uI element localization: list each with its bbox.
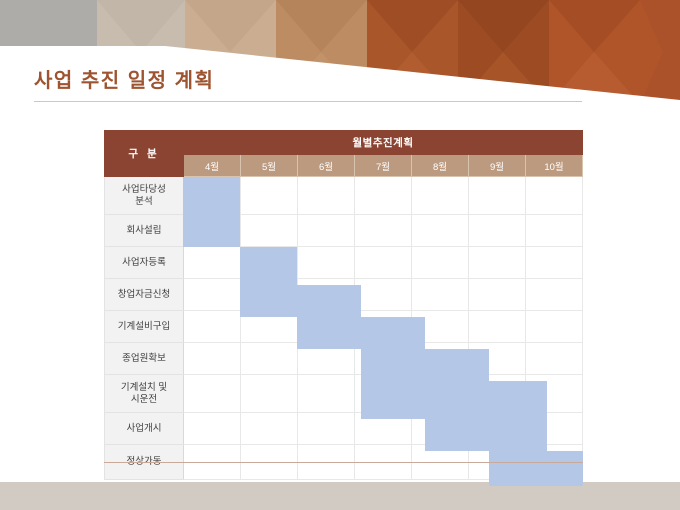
cell-6-6 bbox=[526, 375, 583, 413]
header-category: 구 분 bbox=[105, 131, 184, 177]
cell-2-5 bbox=[469, 247, 526, 279]
row-label-1: 회사설립 bbox=[105, 215, 184, 247]
table-row: 사업자등록 bbox=[105, 247, 583, 279]
table-bottom-border bbox=[104, 462, 583, 463]
slide: 사업 추진 일정 계획 구 분 월별추진계획 4월 5월 6월 7월 8월 9월… bbox=[0, 0, 680, 510]
header-plan: 월별추진계획 bbox=[184, 131, 583, 155]
cell-2-4 bbox=[412, 247, 469, 279]
table-row: 기계설비구입 bbox=[105, 311, 583, 343]
table-row: 사업개시 bbox=[105, 413, 583, 445]
header-month-5: 5월 bbox=[241, 155, 298, 177]
cell-5-1 bbox=[241, 343, 298, 375]
table-row: 기계설치 및 시운전 bbox=[105, 375, 583, 413]
cell-4-4 bbox=[412, 311, 469, 343]
cell-4-6 bbox=[526, 311, 583, 343]
cell-7-3 bbox=[355, 413, 412, 445]
table-body: 사업타당성 분석 회사설립 bbox=[105, 177, 583, 480]
cell-5-6 bbox=[526, 343, 583, 375]
cell-2-2 bbox=[298, 247, 355, 279]
cell-7-4 bbox=[412, 413, 469, 445]
cell-4-5 bbox=[469, 311, 526, 343]
header-month-7: 7월 bbox=[355, 155, 412, 177]
cell-7-6 bbox=[526, 413, 583, 445]
cell-1-4 bbox=[412, 215, 469, 247]
cell-3-6 bbox=[526, 279, 583, 311]
cell-7-2 bbox=[298, 413, 355, 445]
header-month-6: 6월 bbox=[298, 155, 355, 177]
cell-0-1 bbox=[241, 177, 298, 215]
cell-5-4 bbox=[412, 343, 469, 375]
row-label-line2: 시운전 bbox=[131, 394, 157, 405]
cell-5-5 bbox=[469, 343, 526, 375]
header-month-8: 8월 bbox=[412, 155, 469, 177]
table-row: 종업원확보 bbox=[105, 343, 583, 375]
cell-3-0 bbox=[184, 279, 241, 311]
cell-7-5 bbox=[469, 413, 526, 445]
cell-2-1 bbox=[241, 247, 298, 279]
header-row-main: 구 분 월별추진계획 bbox=[105, 131, 583, 155]
cell-5-2 bbox=[298, 343, 355, 375]
cell-0-4 bbox=[412, 177, 469, 215]
cell-3-3 bbox=[355, 279, 412, 311]
cell-6-2 bbox=[298, 375, 355, 413]
cell-1-5 bbox=[469, 215, 526, 247]
cell-7-0 bbox=[184, 413, 241, 445]
cell-5-0 bbox=[184, 343, 241, 375]
cell-3-1 bbox=[241, 279, 298, 311]
cell-2-0 bbox=[184, 247, 241, 279]
table-row: 사업타당성 분석 bbox=[105, 177, 583, 215]
cell-2-3 bbox=[355, 247, 412, 279]
footer-bar bbox=[0, 482, 680, 510]
table-head: 구 분 월별추진계획 4월 5월 6월 7월 8월 9월 10월 bbox=[105, 131, 583, 177]
cell-5-3 bbox=[355, 343, 412, 375]
cell-6-5 bbox=[469, 375, 526, 413]
header-month-9: 9월 bbox=[469, 155, 526, 177]
row-label-0: 사업타당성 분석 bbox=[105, 177, 184, 215]
cell-4-3 bbox=[355, 311, 412, 343]
row-label-line2: 분석 bbox=[135, 196, 152, 207]
cell-3-4 bbox=[412, 279, 469, 311]
row-label-5: 종업원확보 bbox=[105, 343, 184, 375]
cell-1-3 bbox=[355, 215, 412, 247]
schedule-table-wrapper: 구 분 월별추진계획 4월 5월 6월 7월 8월 9월 10월 사업타당성 bbox=[104, 130, 583, 461]
cell-0-3 bbox=[355, 177, 412, 215]
cell-4-1 bbox=[241, 311, 298, 343]
cell-1-2 bbox=[298, 215, 355, 247]
cell-4-2 bbox=[298, 311, 355, 343]
cell-2-6 bbox=[526, 247, 583, 279]
header-month-4: 4월 bbox=[184, 155, 241, 177]
cell-6-4 bbox=[412, 375, 469, 413]
cell-0-6 bbox=[526, 177, 583, 215]
row-label-line1: 사업타당성 bbox=[122, 184, 166, 195]
cell-1-1 bbox=[241, 215, 298, 247]
cell-0-0 bbox=[184, 177, 241, 215]
schedule-table: 구 분 월별추진계획 4월 5월 6월 7월 8월 9월 10월 사업타당성 bbox=[104, 130, 583, 480]
cell-3-5 bbox=[469, 279, 526, 311]
cell-6-3 bbox=[355, 375, 412, 413]
cell-1-6 bbox=[526, 215, 583, 247]
cell-6-1 bbox=[241, 375, 298, 413]
row-label-3: 창업자금신청 bbox=[105, 279, 184, 311]
row-label-6: 기계설치 및 시운전 bbox=[105, 375, 184, 413]
page-title-text: 사업 추진 일정 계획 bbox=[34, 68, 594, 94]
page-title: 사업 추진 일정 계획 bbox=[34, 68, 594, 94]
cell-1-0 bbox=[184, 215, 241, 247]
cell-4-0 bbox=[184, 311, 241, 343]
cell-7-1 bbox=[241, 413, 298, 445]
row-label-4: 기계설비구입 bbox=[105, 311, 184, 343]
table-row: 창업자금신청 bbox=[105, 279, 583, 311]
cell-6-0 bbox=[184, 375, 241, 413]
cell-0-2 bbox=[298, 177, 355, 215]
cell-3-2 bbox=[298, 279, 355, 311]
table-row: 회사설립 bbox=[105, 215, 583, 247]
cell-0-5 bbox=[469, 177, 526, 215]
title-underline bbox=[34, 101, 582, 102]
row-label-line1: 기계설치 및 bbox=[121, 382, 167, 393]
header-month-10: 10월 bbox=[526, 155, 583, 177]
row-label-2: 사업자등록 bbox=[105, 247, 184, 279]
row-label-7: 사업개시 bbox=[105, 413, 184, 445]
